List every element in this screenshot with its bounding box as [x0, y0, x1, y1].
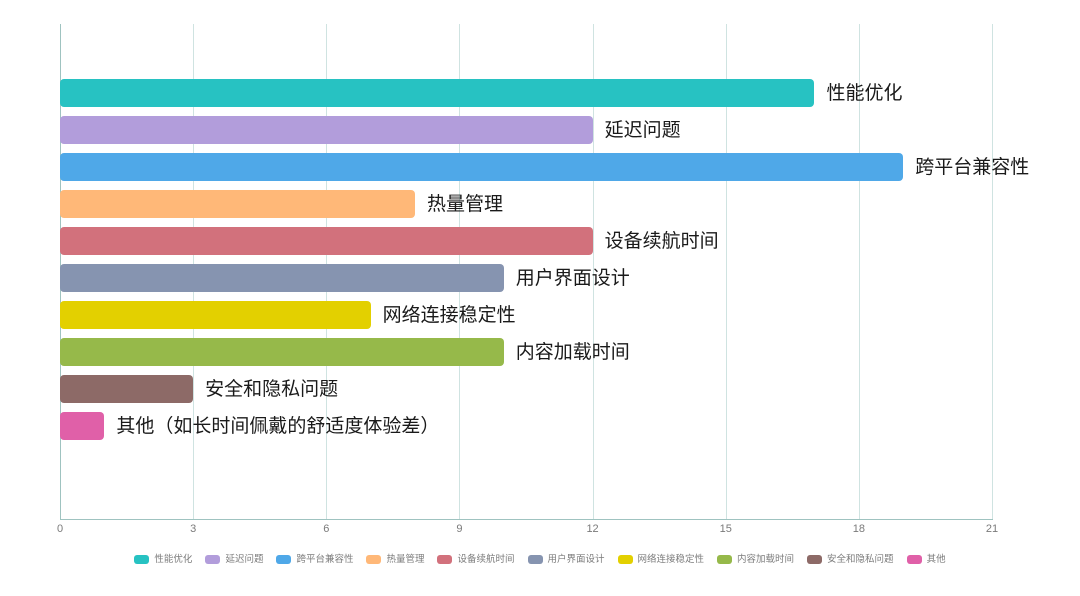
legend-label: 内容加载时间 [737, 555, 794, 565]
legend-label: 热量管理 [386, 555, 424, 565]
horizontal-bar-chart: 036912151821 性能优化延迟问题跨平台兼容性热量管理设备续航时间用户界… [0, 0, 1080, 596]
bar-row[interactable]: 安全和隐私问题 [60, 375, 338, 403]
bar[interactable] [60, 227, 593, 255]
legend-item[interactable]: 用户界面设计 [528, 555, 605, 565]
legend-label: 延迟问题 [225, 555, 263, 565]
legend-swatch [276, 555, 291, 564]
legend-swatch [205, 555, 220, 564]
legend-item[interactable]: 性能优化 [134, 555, 192, 565]
bar[interactable] [60, 412, 104, 440]
bar[interactable] [60, 301, 371, 329]
bar[interactable] [60, 116, 593, 144]
bar-label: 内容加载时间 [516, 343, 630, 362]
bar[interactable] [60, 79, 814, 107]
bar[interactable] [60, 338, 504, 366]
legend-label: 用户界面设计 [548, 555, 605, 565]
x-tick-label: 6 [323, 523, 329, 535]
legend-swatch [717, 555, 732, 564]
bar[interactable] [60, 190, 415, 218]
bar-row[interactable]: 其他（如长时间佩戴的舒适度体验差） [60, 412, 439, 440]
bar-label: 跨平台兼容性 [915, 158, 1029, 177]
bar-row[interactable]: 性能优化 [60, 79, 902, 107]
bar-label: 性能优化 [826, 84, 902, 103]
legend-label: 其他 [927, 555, 946, 565]
x-tick-label: 18 [853, 523, 865, 535]
legend-label: 性能优化 [154, 555, 192, 565]
bar-row[interactable]: 内容加载时间 [60, 338, 630, 366]
legend-swatch [134, 555, 149, 564]
chart-legend: 性能优化延迟问题跨平台兼容性热量管理设备续航时间用户界面设计网络连接稳定性内容加… [0, 555, 1080, 565]
bar-row[interactable]: 延迟问题 [60, 116, 681, 144]
x-tick-label: 9 [456, 523, 462, 535]
legend-item[interactable]: 网络连接稳定性 [618, 555, 705, 565]
bar-label: 安全和隐私问题 [205, 380, 338, 399]
legend-label: 设备续航时间 [457, 555, 514, 565]
bar[interactable] [60, 264, 504, 292]
bar-row[interactable]: 热量管理 [60, 190, 503, 218]
bar-label: 用户界面设计 [516, 269, 630, 288]
bar[interactable] [60, 375, 193, 403]
x-tick-label: 3 [190, 523, 196, 535]
x-tick-label: 21 [986, 523, 998, 535]
bar-label: 延迟问题 [605, 121, 681, 140]
bar-label: 网络连接稳定性 [383, 306, 516, 325]
bar-label: 其他（如长时间佩戴的舒适度体验差） [116, 417, 439, 436]
legend-item[interactable]: 其他 [907, 555, 946, 565]
legend-item[interactable]: 延迟问题 [205, 555, 263, 565]
bar-row[interactable]: 用户界面设计 [60, 264, 630, 292]
x-tick-label: 12 [586, 523, 598, 535]
bar-label: 设备续航时间 [605, 232, 719, 251]
bar-row[interactable]: 跨平台兼容性 [60, 153, 1029, 181]
legend-label: 跨平台兼容性 [296, 555, 353, 565]
bar-row[interactable]: 网络连接稳定性 [60, 301, 516, 329]
bar-row[interactable]: 设备续航时间 [60, 227, 719, 255]
legend-item[interactable]: 跨平台兼容性 [276, 555, 353, 565]
x-tick-label: 15 [720, 523, 732, 535]
legend-item[interactable]: 内容加载时间 [717, 555, 794, 565]
legend-swatch [437, 555, 452, 564]
legend-swatch [807, 555, 822, 564]
legend-swatch [528, 555, 543, 564]
legend-label: 网络连接稳定性 [638, 555, 705, 565]
legend-swatch [907, 555, 922, 564]
legend-swatch [618, 555, 633, 564]
legend-label: 安全和隐私问题 [827, 555, 894, 565]
legend-item[interactable]: 热量管理 [366, 555, 424, 565]
bar-label: 热量管理 [427, 195, 503, 214]
x-axis-line [60, 519, 993, 520]
gridline-21 [992, 24, 993, 519]
x-tick-label: 0 [57, 523, 63, 535]
legend-swatch [366, 555, 381, 564]
bar[interactable] [60, 153, 903, 181]
legend-item[interactable]: 安全和隐私问题 [807, 555, 894, 565]
legend-item[interactable]: 设备续航时间 [437, 555, 514, 565]
